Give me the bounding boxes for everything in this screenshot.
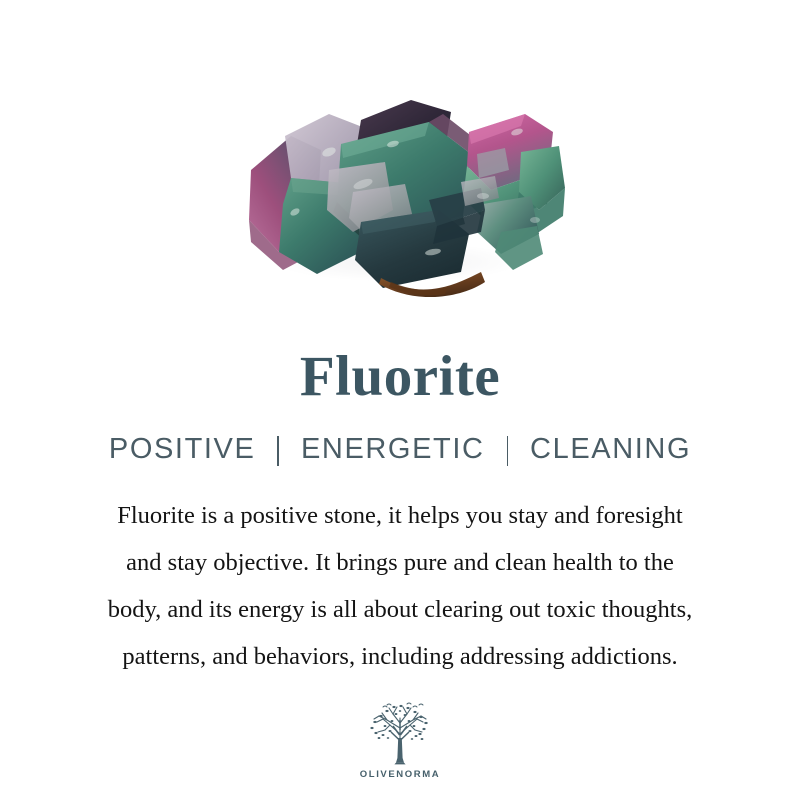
description-line: Fluorite is a positive stone, it helps y… <box>20 492 780 539</box>
keyword-energetic: ENERGETIC <box>301 433 485 466</box>
keyword-row: POSITIVE ENERGETIC CLEANING <box>109 433 691 466</box>
description-line: body, and its energy is all about cleari… <box>20 586 780 633</box>
brand-name: OLIVENORMA <box>360 769 440 780</box>
description-text: Fluorite is a positive stone, it helps y… <box>20 492 780 680</box>
page-title: Fluorite <box>300 320 500 405</box>
fluorite-crystal-svg <box>233 92 568 297</box>
fluorite-crystal-image <box>233 92 568 297</box>
keyword-positive: POSITIVE <box>109 433 256 466</box>
keyword-separator-1 <box>277 436 279 466</box>
keyword-cleaning: CLEANING <box>530 433 691 466</box>
keyword-separator-2 <box>507 436 509 466</box>
hero-image-block <box>0 0 800 320</box>
infographic-card: Fluorite POSITIVE ENERGETIC CLEANING Flu… <box>0 0 800 800</box>
brand-logo: OLIVENORMA <box>360 702 440 780</box>
description-line: patterns, and behaviors, including addre… <box>20 633 780 680</box>
description-line: and stay objective. It brings pure and c… <box>20 539 780 586</box>
tree-icon <box>363 702 437 768</box>
